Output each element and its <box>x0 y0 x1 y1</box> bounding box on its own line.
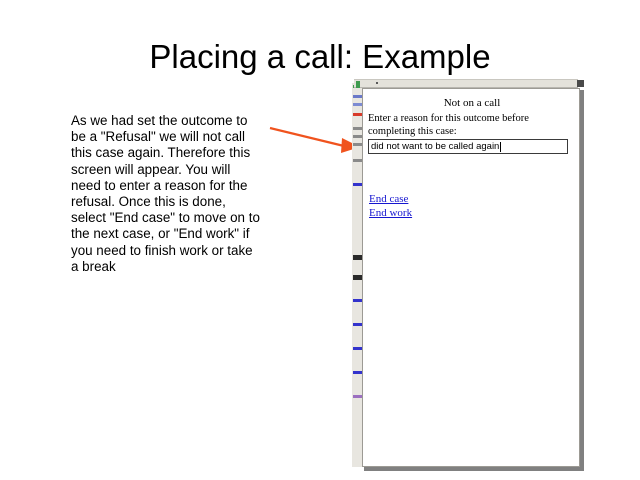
bg-fragment <box>353 95 362 98</box>
bg-fragment <box>353 275 362 280</box>
not-on-a-call-dialog: Not on a call Enter a reason for this ou… <box>362 88 580 467</box>
bg-fragment <box>353 103 362 106</box>
end-case-link[interactable]: End case <box>369 193 408 205</box>
bg-fragment <box>353 183 362 186</box>
green-marker-icon <box>356 81 360 88</box>
window-titlebar-strip[interactable] <box>354 79 578 88</box>
red-arrow-icon <box>268 120 364 158</box>
text-caret <box>500 142 501 152</box>
bg-fragment <box>353 323 362 326</box>
slide-body-text: As we had set the outcome to be a "Refus… <box>71 113 261 275</box>
bg-fragment <box>353 299 362 302</box>
bg-fragment <box>353 159 362 162</box>
bg-fragment <box>353 371 362 374</box>
reason-input[interactable]: did not want to be called again <box>368 139 568 154</box>
embedded-screenshot: Not on a call Enter a reason for this ou… <box>352 79 584 471</box>
window-corner-square-icon <box>577 80 584 87</box>
dialog-heading: Not on a call <box>363 97 580 109</box>
bg-fragment <box>353 127 362 130</box>
bg-fragment <box>353 395 362 398</box>
page-title: Placing a call: Example <box>0 38 640 76</box>
bg-fragment <box>353 113 362 116</box>
bg-fragment <box>353 347 362 350</box>
bg-fragment <box>353 143 362 146</box>
topbar-dot-icon <box>376 82 378 84</box>
dialog-instruction-text: Enter a reason for this outcome before c… <box>368 112 576 138</box>
end-work-link[interactable]: End work <box>369 207 412 219</box>
bg-fragment <box>353 135 362 138</box>
reason-input-value: did not want to be called again <box>371 140 499 153</box>
bg-fragment <box>353 255 362 260</box>
